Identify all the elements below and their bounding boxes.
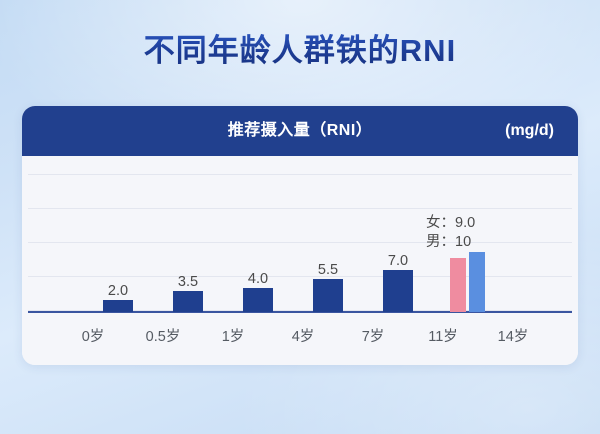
x-label-11sui: 11岁 [408,325,478,346]
rni-chart-card: 推荐摄入量（RNI） (mg/d) 2.0 3.5 4.0 5.5 [22,106,578,365]
card-header-title: 推荐摄入量（RNI） [22,106,578,156]
bar-value-14sui-male: 男：10 [426,233,471,252]
x-label-7sui: 7岁 [338,325,408,346]
x-axis-labels: 0岁 0.5岁 1岁 4岁 7岁 11岁 14岁 [22,325,578,345]
x-label-4sui: 4岁 [268,325,338,346]
x-label-1sui: 1岁 [198,325,268,346]
x-label-14sui: 14岁 [478,325,548,346]
bar-4sui[interactable] [313,279,343,312]
bar-value-4sui: 5.5 [298,262,358,278]
bar-value-7sui: 7.0 [368,253,428,269]
page-title-container: 不同年龄人群铁的RNI [0,30,600,72]
bar-0sui[interactable] [103,300,133,312]
card-header: 推荐摄入量（RNI） (mg/d) [22,106,578,156]
x-label-0sui: 0岁 [58,325,128,346]
bar-7sui[interactable] [383,270,413,312]
bar-value-05sui: 3.5 [158,274,218,290]
bar-chart-plot: 2.0 3.5 4.0 5.5 7.0 女：9.0 男：10 0岁 0.5岁 1… [22,156,578,365]
bar-14sui-male[interactable] [469,252,485,312]
page-title: 不同年龄人群铁的RNI [144,30,456,72]
bar-value-14sui-female: 女：9.0 [426,214,475,233]
bar-05sui[interactable] [173,291,203,312]
bar-14sui-female[interactable] [450,258,466,312]
bar-value-1sui: 4.0 [228,271,288,287]
x-label-05sui: 0.5岁 [128,325,198,346]
card-header-unit: (mg/d) [505,106,554,156]
bar-value-0sui: 2.0 [88,283,148,299]
bar-1sui[interactable] [243,288,273,312]
